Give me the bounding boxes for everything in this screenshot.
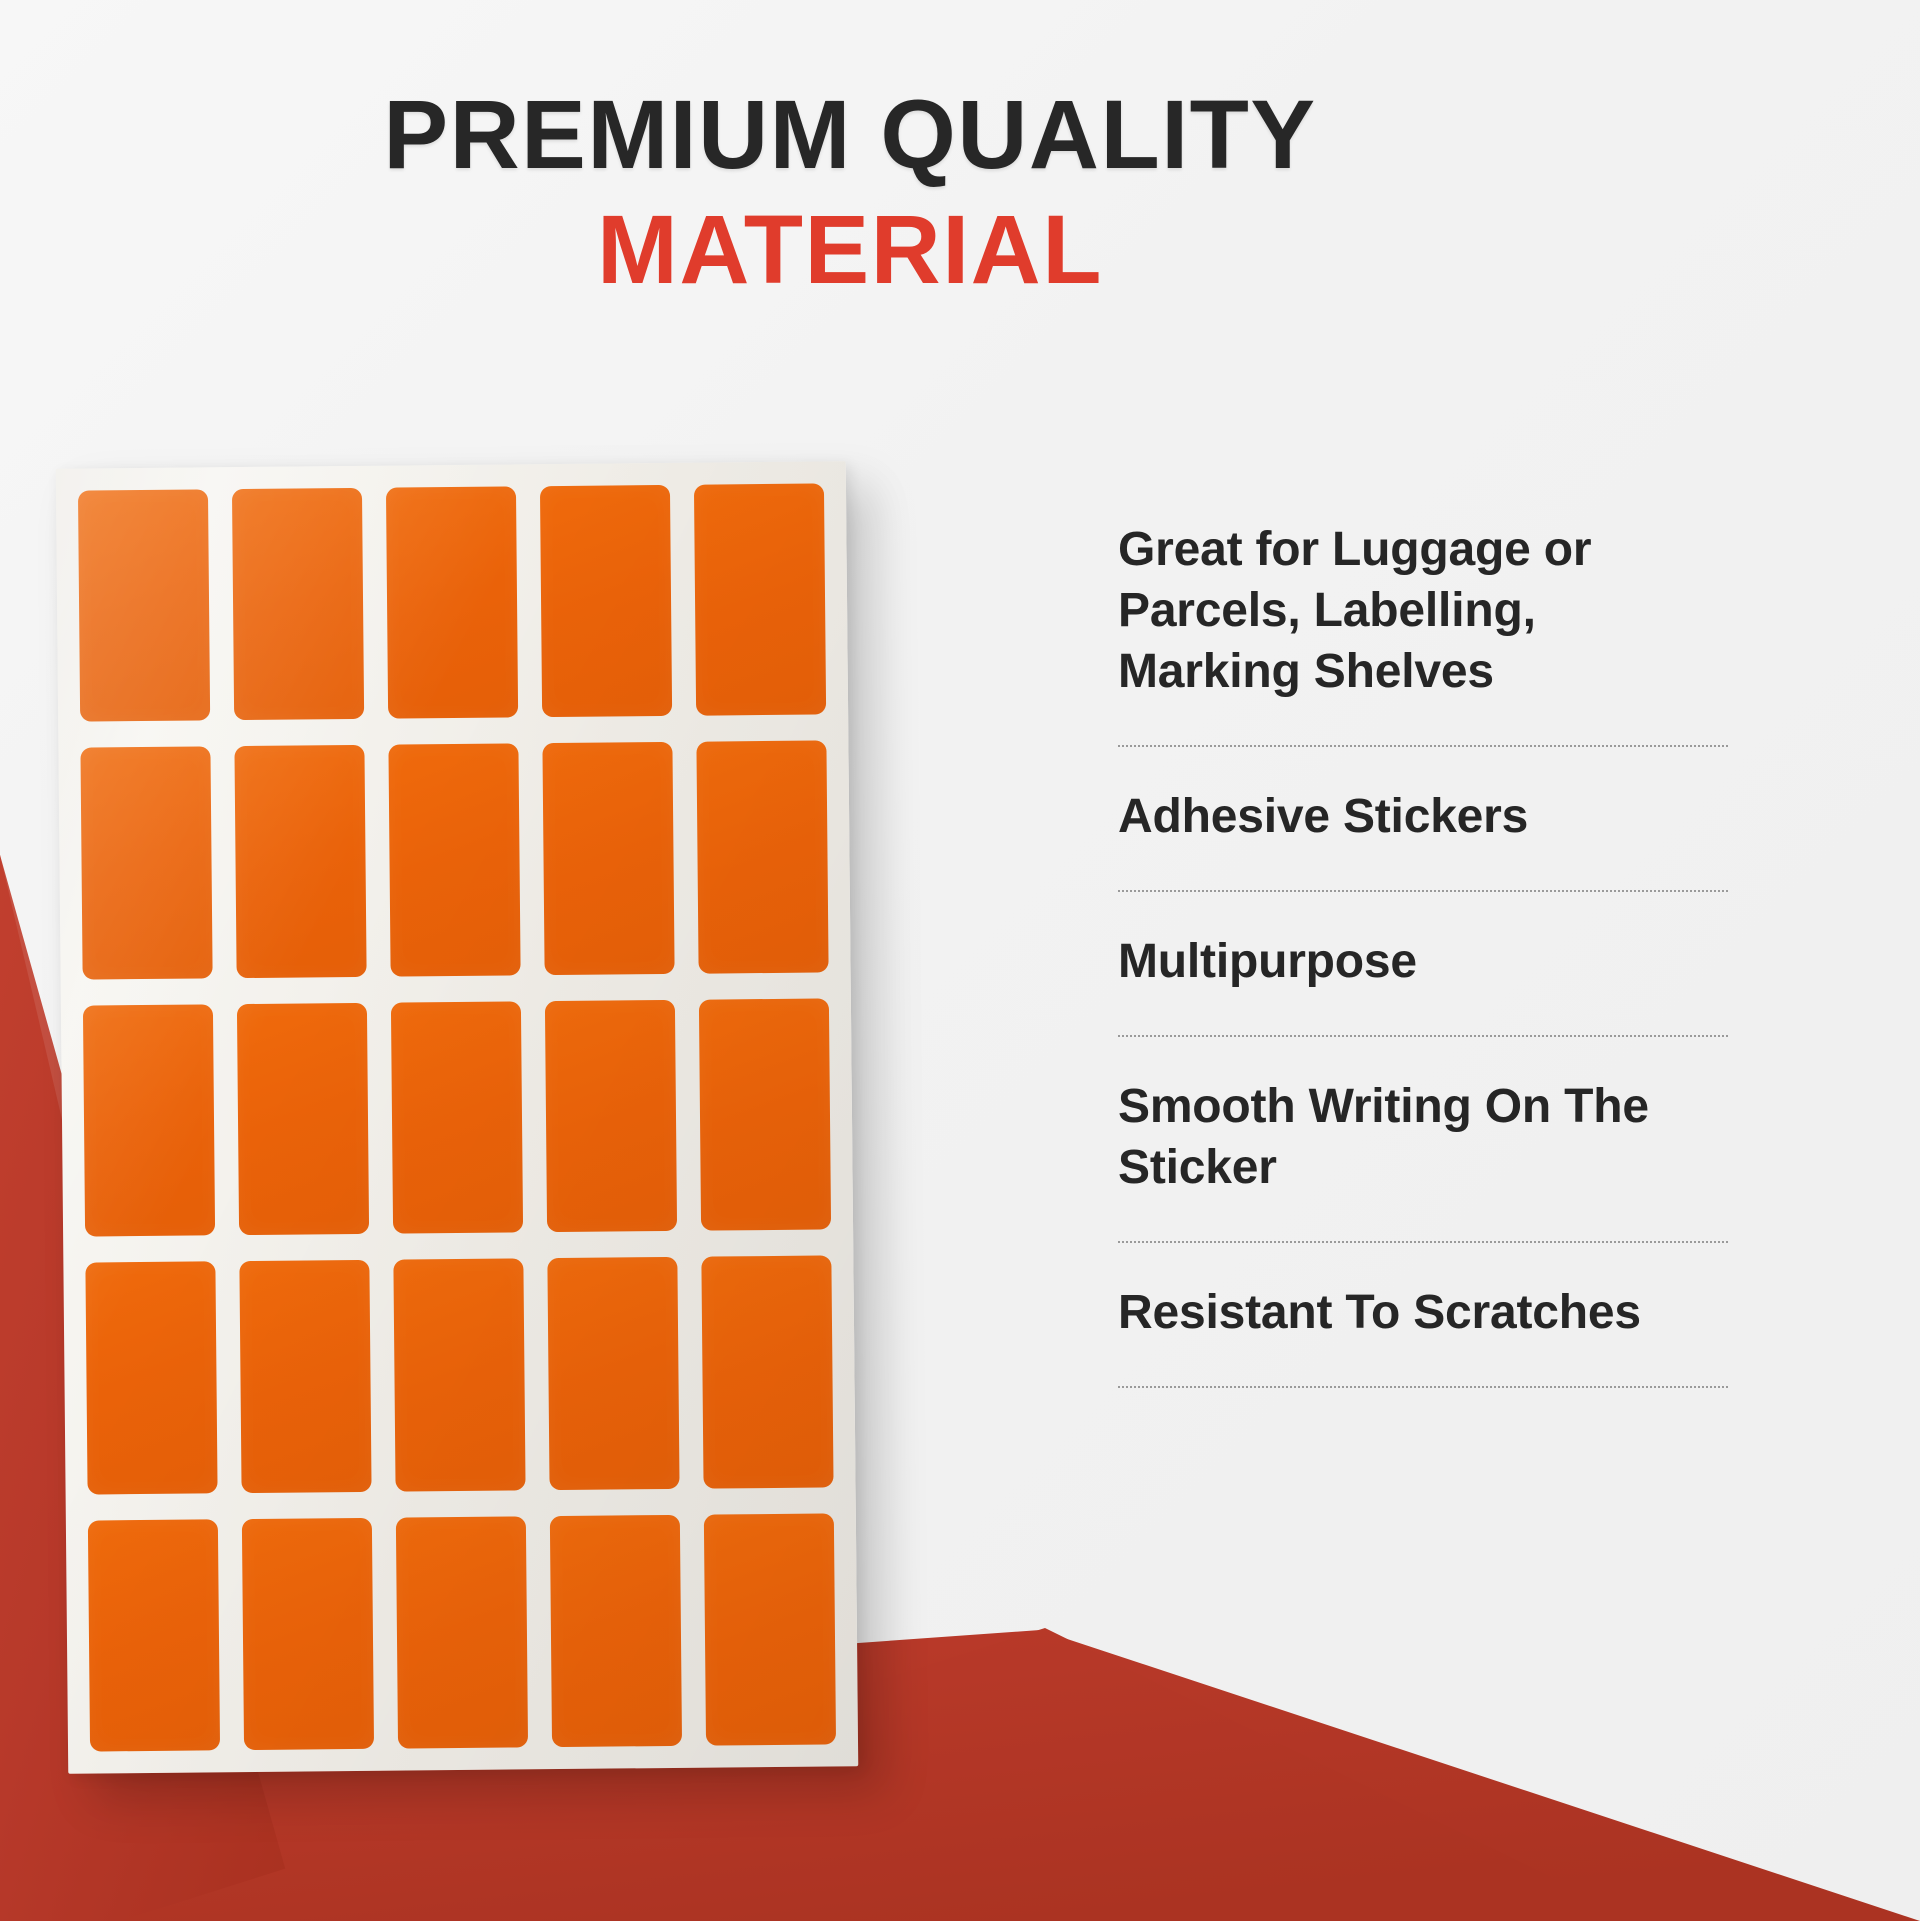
product-infographic-canvas: PREMIUM QUALITY MATERIAL bbox=[0, 0, 1920, 1921]
label-chip bbox=[88, 1519, 220, 1752]
feature-item-3: Multipurpose bbox=[1118, 932, 1728, 993]
feature-item-1: Great for Luggage or Parcels, Labelling,… bbox=[1118, 520, 1728, 703]
label-sheet-backing bbox=[56, 461, 858, 1774]
headline-line-accent: MATERIAL bbox=[0, 201, 1700, 300]
label-chip bbox=[701, 1256, 833, 1489]
label-chip bbox=[234, 745, 366, 978]
page-title: PREMIUM QUALITY MATERIAL bbox=[0, 86, 1700, 300]
label-chip bbox=[694, 483, 826, 716]
label-chip bbox=[242, 1517, 374, 1750]
label-chip bbox=[542, 742, 674, 975]
label-chip bbox=[386, 486, 518, 719]
feature-item-4: Smooth Writing On The Sticker bbox=[1118, 1077, 1728, 1199]
feature-label: Smooth Writing On The Sticker bbox=[1118, 1077, 1728, 1199]
feature-label: Great for Luggage or Parcels, Labelling,… bbox=[1118, 520, 1728, 703]
feature-item-5: Resistant To Scratches bbox=[1118, 1283, 1728, 1344]
label-chip bbox=[239, 1260, 371, 1493]
feature-item-2: Adhesive Stickers bbox=[1118, 787, 1728, 848]
label-chip bbox=[78, 489, 210, 722]
label-chip bbox=[396, 1516, 528, 1749]
label-chip bbox=[699, 998, 831, 1231]
label-chip bbox=[83, 1004, 215, 1237]
label-chip bbox=[237, 1003, 369, 1236]
headline-line-primary: PREMIUM QUALITY bbox=[0, 86, 1700, 185]
label-chip bbox=[550, 1514, 682, 1747]
label-chip bbox=[393, 1259, 525, 1492]
label-chip bbox=[80, 747, 212, 980]
label-chip bbox=[540, 485, 672, 718]
label-grid bbox=[78, 483, 836, 1751]
feature-label: Resistant To Scratches bbox=[1118, 1283, 1728, 1344]
product-image bbox=[62, 465, 862, 1785]
label-chip bbox=[232, 488, 364, 721]
label-chip bbox=[545, 1000, 677, 1233]
label-chip bbox=[85, 1262, 217, 1495]
label-chip bbox=[388, 744, 520, 977]
label-sheet-inner bbox=[56, 461, 858, 1774]
label-chip bbox=[696, 741, 828, 974]
feature-label: Adhesive Stickers bbox=[1118, 787, 1728, 848]
label-chip bbox=[704, 1513, 836, 1746]
feature-label: Multipurpose bbox=[1118, 932, 1728, 993]
label-chip bbox=[391, 1001, 523, 1234]
feature-divider bbox=[1118, 1386, 1728, 1388]
label-chip bbox=[547, 1257, 679, 1490]
feature-list: Great for Luggage or Parcels, Labelling,… bbox=[1118, 520, 1728, 1388]
